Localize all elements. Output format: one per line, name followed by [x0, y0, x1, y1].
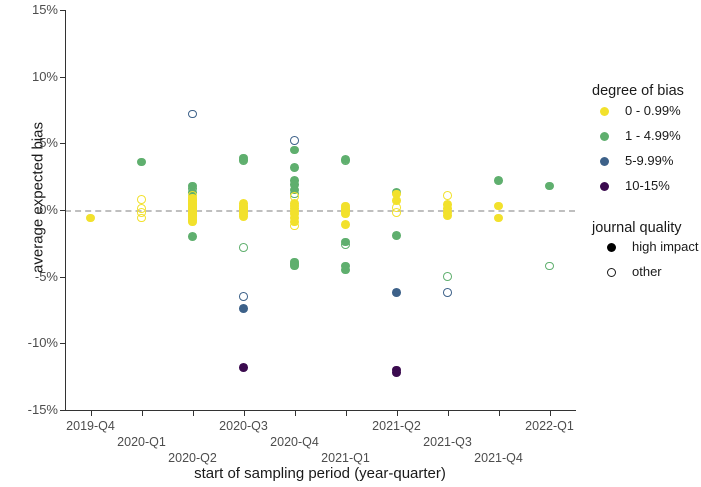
legend-item-label: 10-15% — [625, 179, 670, 192]
scatter-point — [239, 243, 248, 252]
scatter-point — [86, 214, 95, 223]
scatter-point — [392, 208, 401, 217]
scatter-point — [341, 220, 350, 229]
scatter-point — [443, 211, 452, 220]
scatter-point — [137, 158, 146, 167]
scatter-point — [494, 176, 503, 185]
scatter-point — [545, 182, 554, 191]
scatter-point — [494, 214, 503, 223]
legend-container: degree of bias 0 - 0.99%1 - 4.99%5-9.99%… — [592, 84, 701, 285]
x-axis-tick-label: 2019-Q4 — [66, 420, 115, 433]
scatter-point — [188, 232, 197, 241]
legend-title-journal-quality: journal quality — [592, 221, 701, 236]
scatter-point — [392, 288, 401, 297]
legend-marker-icon — [607, 268, 616, 277]
scatter-point — [443, 272, 452, 281]
x-axis-tick-mark — [193, 411, 194, 416]
y-axis-tick-label: -15% — [10, 403, 58, 416]
legend-color-swatch-icon — [600, 132, 609, 141]
x-axis-tick-mark — [142, 411, 143, 416]
scatter-point — [290, 262, 299, 271]
x-axis-tick-mark — [346, 411, 347, 416]
scatter-point — [137, 214, 146, 223]
scatter-point — [341, 156, 350, 165]
y-axis-line — [65, 10, 66, 411]
legend-color-swatch-icon — [600, 107, 609, 116]
scatter-point — [290, 163, 299, 172]
legend-item[interactable]: 1 - 4.99% — [592, 124, 701, 149]
scatter-point — [239, 156, 248, 165]
x-axis-tick-label: 2021-Q4 — [474, 452, 523, 465]
scatter-point — [443, 191, 452, 200]
chart-root: 15%10%5%0%-5%-10%-15% average expected b… — [0, 0, 701, 487]
x-axis-tick-label: 2020-Q2 — [168, 452, 217, 465]
scatter-point — [341, 240, 350, 249]
legend-item[interactable]: 10-15% — [592, 174, 701, 199]
scatter-point — [392, 231, 401, 240]
x-axis-tick-mark — [244, 411, 245, 416]
y-axis-tick-label: 15% — [10, 3, 58, 16]
y-axis-title: average expected bias — [31, 48, 46, 348]
legend-group-journal-quality: high impactother — [592, 235, 701, 285]
x-axis-tick-label: 2020-Q4 — [270, 436, 319, 449]
x-axis-tick-mark — [397, 411, 398, 416]
x-axis-tick-label: 2021-Q3 — [423, 436, 472, 449]
x-axis-tick-label: 2021-Q1 — [321, 452, 370, 465]
x-axis-tick-mark — [499, 411, 500, 416]
scatter-point — [137, 195, 146, 204]
legend-item-label: 0 - 0.99% — [625, 104, 681, 117]
scatter-point — [545, 262, 554, 271]
x-axis-tick-mark — [550, 411, 551, 416]
legend-item[interactable]: high impact — [592, 235, 701, 260]
scatter-point — [290, 222, 299, 231]
legend-item-label: other — [632, 265, 662, 278]
x-axis-title: start of sampling period (year-quarter) — [65, 466, 575, 481]
scatter-point — [341, 266, 350, 275]
x-axis-tick-mark — [91, 411, 92, 416]
scatter-point — [239, 304, 248, 313]
legend-item-label: 5-9.99% — [625, 154, 673, 167]
legend-color-swatch-icon — [600, 157, 609, 166]
scatter-point — [443, 288, 452, 297]
scatter-point — [290, 136, 299, 145]
x-axis-tick-mark — [295, 411, 296, 416]
x-axis-tick-mark — [448, 411, 449, 416]
legend-item[interactable]: other — [592, 260, 701, 285]
scatter-point — [239, 212, 248, 221]
scatter-point — [290, 146, 299, 155]
scatter-point — [392, 368, 401, 377]
legend-color-swatch-icon — [600, 182, 609, 191]
scatter-point — [188, 218, 197, 227]
legend-item-label: high impact — [632, 240, 698, 253]
x-axis-tick-label: 2022-Q1 — [525, 420, 574, 433]
x-axis-tick-label: 2020-Q3 — [219, 420, 268, 433]
legend-group-degree-of-bias: 0 - 0.99%1 - 4.99%5-9.99%10-15% — [592, 99, 701, 199]
x-axis-tick-label: 2021-Q2 — [372, 420, 421, 433]
legend-title-degree-of-bias: degree of bias — [592, 84, 701, 99]
scatter-point — [494, 202, 503, 211]
x-axis-tick-label: 2020-Q1 — [117, 436, 166, 449]
scatter-point — [239, 292, 248, 301]
legend-item-label: 1 - 4.99% — [625, 129, 681, 142]
scatter-point — [341, 210, 350, 219]
legend-marker-icon — [607, 243, 616, 252]
scatter-point — [188, 110, 197, 119]
legend-item[interactable]: 0 - 0.99% — [592, 99, 701, 124]
legend-item[interactable]: 5-9.99% — [592, 149, 701, 174]
scatter-point — [239, 363, 248, 372]
plot-panel — [65, 10, 575, 410]
